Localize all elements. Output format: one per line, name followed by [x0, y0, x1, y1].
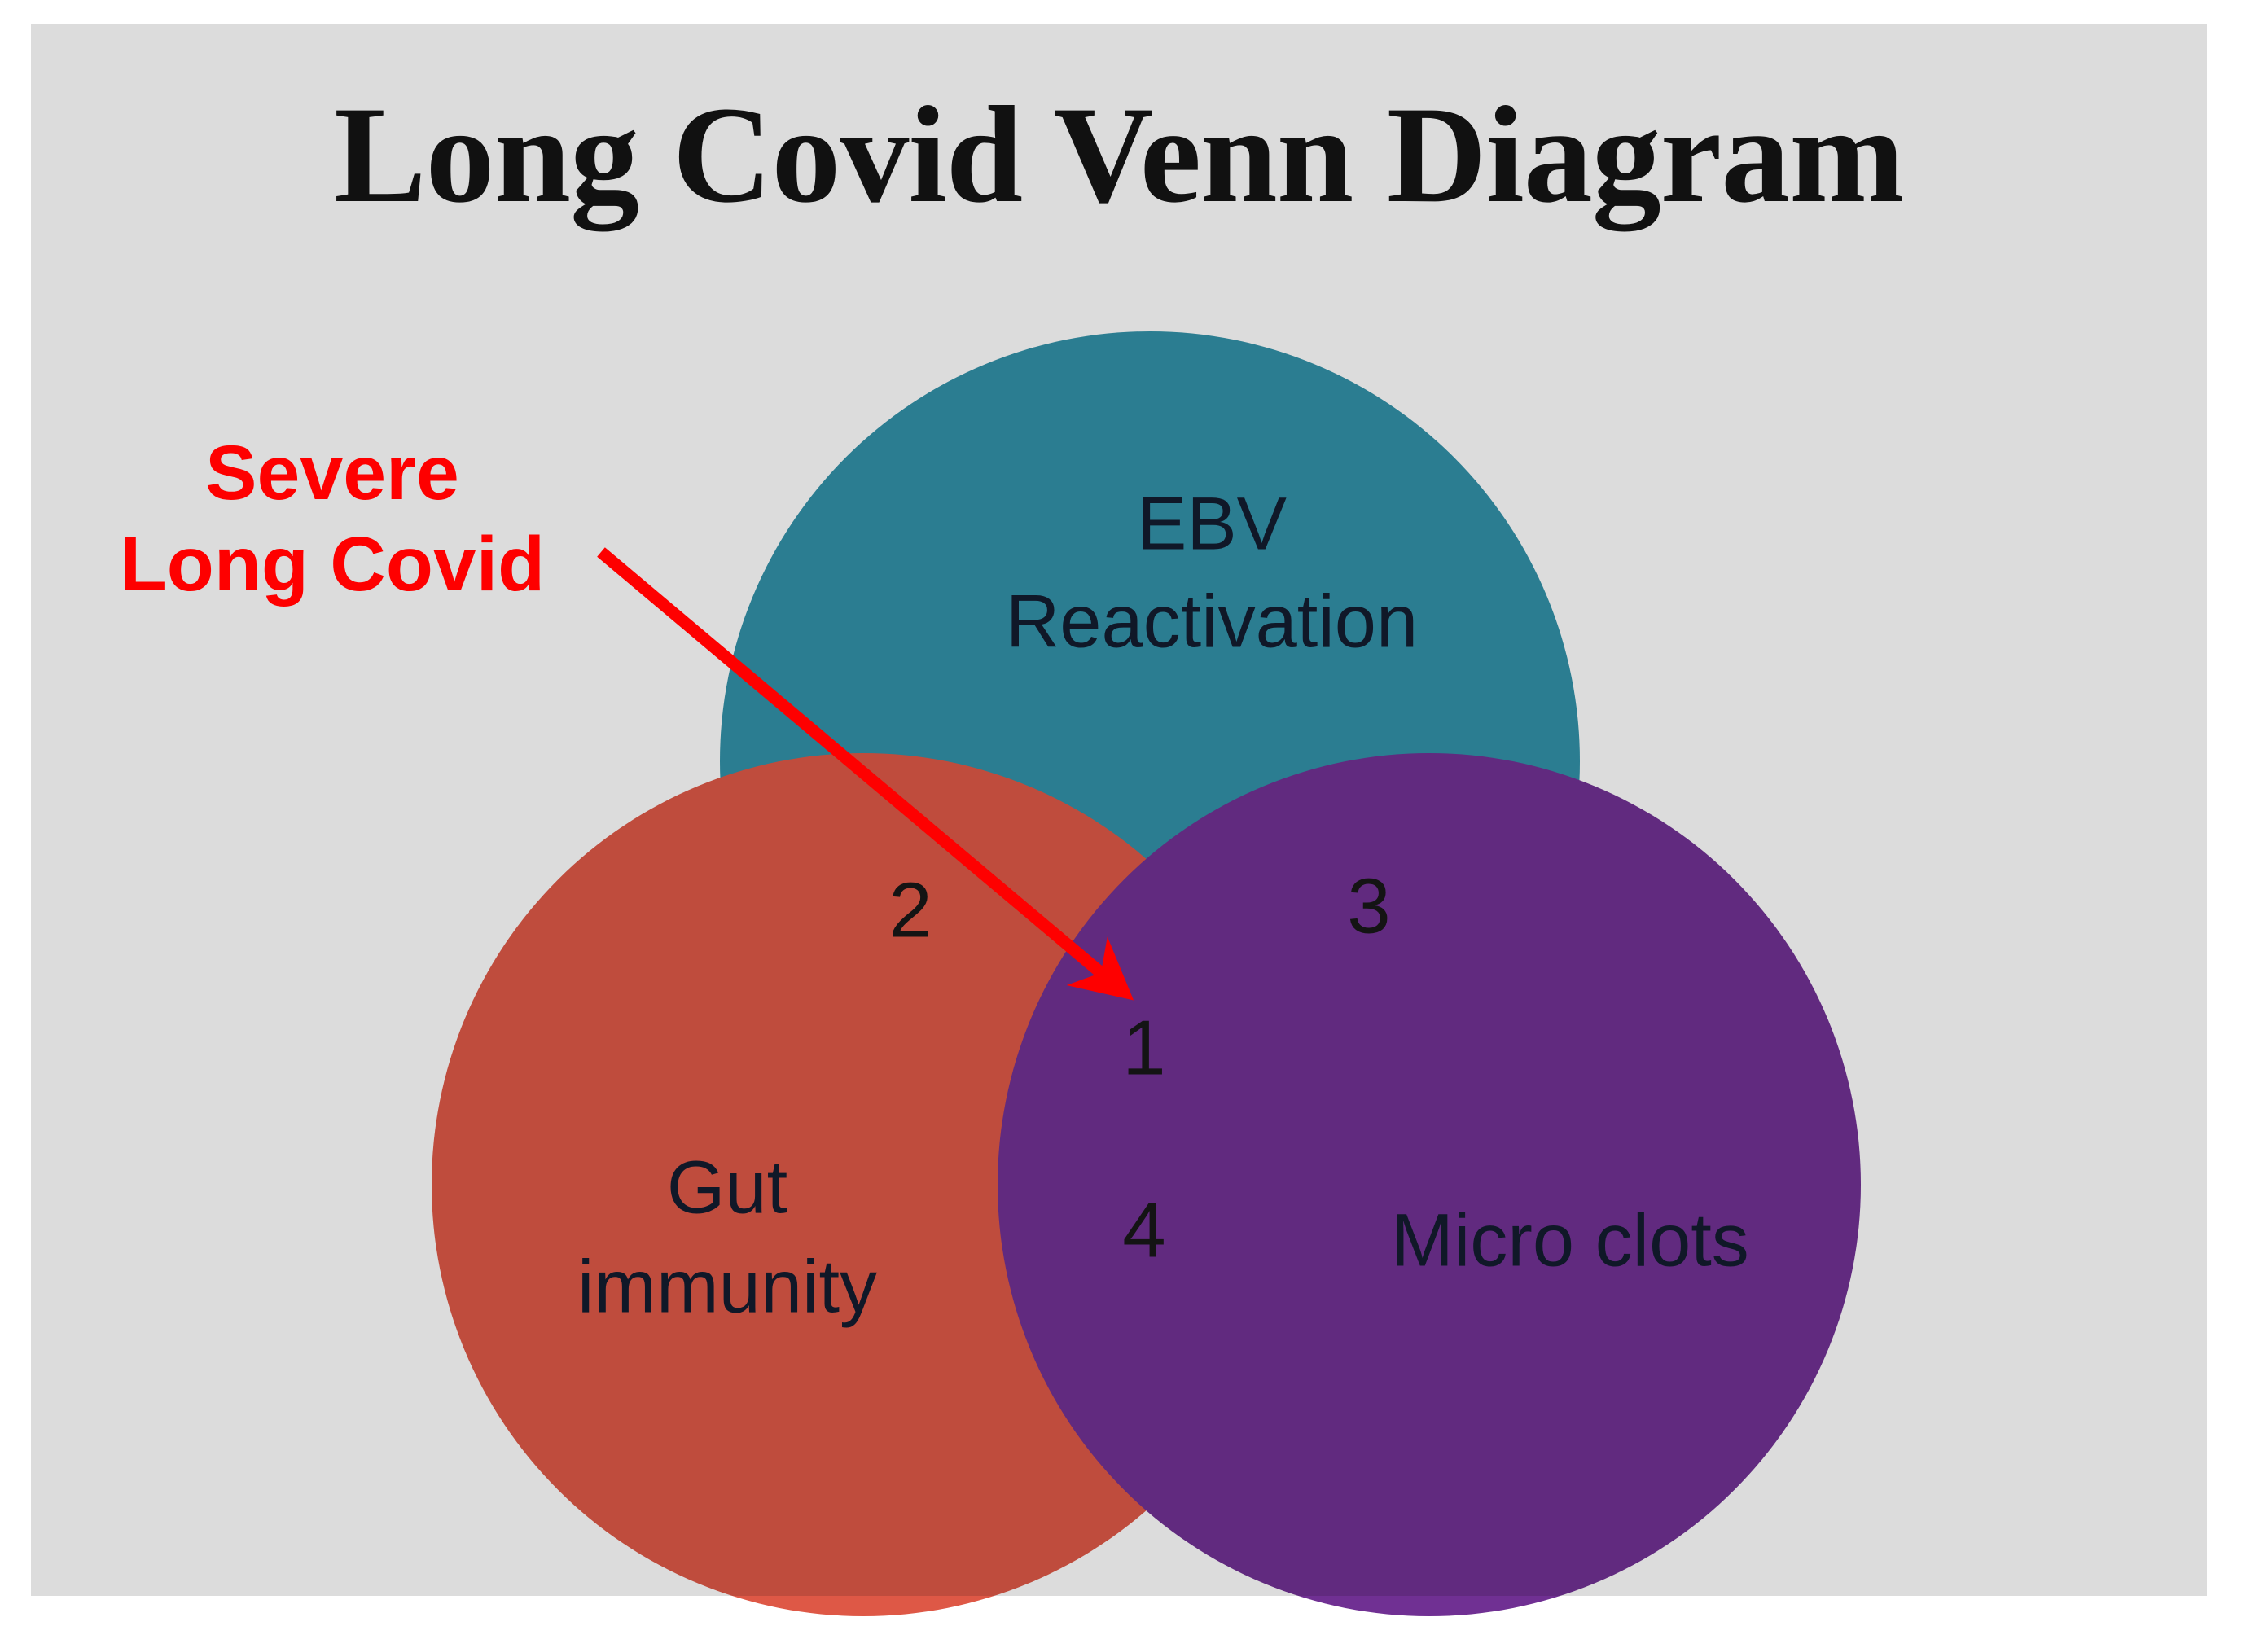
label-gut-line2: immunity: [577, 1245, 877, 1328]
venn-diagram: EBV Reactivation Gut immunity Micro clot…: [31, 24, 2207, 1596]
region-count-center: 1: [1122, 1004, 1165, 1091]
callout-line-2: Long Covid: [80, 519, 585, 610]
callout-severe-long-covid: Severe Long Covid: [80, 427, 585, 610]
label-ebv-line1: EBV: [1137, 482, 1287, 565]
circle-micro-clots: [998, 753, 1861, 1616]
label-gut-line1: Gut: [667, 1146, 787, 1229]
region-count-gut-clot: 4: [1122, 1186, 1165, 1273]
region-count-ebv-clot: 3: [1347, 862, 1390, 949]
region-count-ebv-gut: 2: [888, 866, 932, 953]
diagram-canvas: Long Covid Venn Diagram EBV Reactivation…: [0, 0, 2268, 1648]
diagram-panel: Long Covid Venn Diagram EBV Reactivation…: [31, 24, 2207, 1596]
callout-line-1: Severe: [80, 427, 585, 519]
label-micro-clots: Micro clots: [1391, 1199, 1749, 1282]
label-ebv-line2: Reactivation: [1006, 580, 1418, 663]
